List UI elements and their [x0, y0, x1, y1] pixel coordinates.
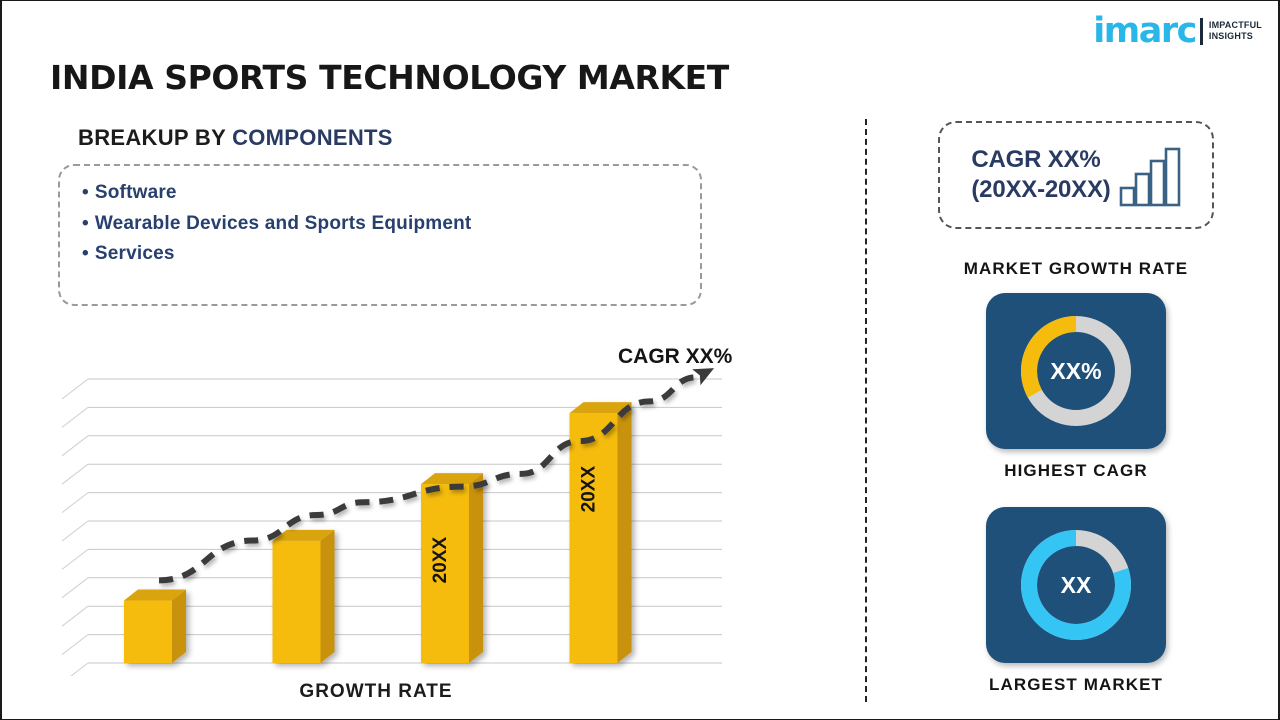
- donut-chart-largest-market: XX: [1011, 520, 1141, 650]
- growth-rate-bar-chart: 20XX20XX CAGR XX%: [50, 331, 750, 676]
- list-item: •Services: [82, 239, 700, 270]
- chart-x-axis-label: GROWTH RATE: [2, 681, 750, 703]
- page-title: INDIA SPORTS TECHNOLOGY MARKET: [50, 58, 729, 97]
- donut-chart-highest-cagr: XX%: [1011, 306, 1141, 436]
- infographic-page: imarc IMPACTFUL INSIGHTS INDIA SPORTS TE…: [0, 0, 1280, 720]
- highest-cagr-card: XX%: [986, 293, 1166, 449]
- bar: [124, 590, 186, 663]
- list-item-label: Services: [95, 243, 175, 264]
- largest-market-caption: LARGEST MARKET: [896, 675, 1256, 695]
- bar-chart-icon: [1119, 147, 1181, 207]
- logo-divider: [1200, 18, 1203, 45]
- bar-label: 20XX: [579, 466, 600, 513]
- cagr-period: (20XX-20XX): [971, 175, 1110, 205]
- cagr-card: CAGR XX% (20XX-20XX): [938, 121, 1214, 229]
- subtitle-accent: COMPONENTS: [232, 125, 393, 150]
- chart-canvas: 20XX20XX CAGR XX%: [50, 331, 750, 676]
- bar-label: 20XX: [430, 537, 451, 584]
- logo-tagline: IMPACTFUL INSIGHTS: [1209, 20, 1262, 42]
- panel-divider: [865, 119, 867, 702]
- bar: [570, 402, 632, 663]
- cagr-value: CAGR XX%: [971, 145, 1110, 175]
- cagr-card-text: CAGR XX% (20XX-20XX): [971, 145, 1110, 205]
- logo-tagline-line2: INSIGHTS: [1209, 31, 1262, 42]
- largest-market-card: XX: [986, 507, 1166, 663]
- components-list-box: •Software •Wearable Devices and Sports E…: [58, 164, 702, 306]
- logo-wordmark: imarc: [1093, 14, 1196, 48]
- bullet-icon: •: [82, 213, 89, 234]
- cagr-card-caption: MARKET GROWTH RATE: [896, 259, 1256, 279]
- page-subtitle: BREAKUP BY COMPONENTS: [78, 125, 393, 151]
- donut-value: XX%: [1050, 358, 1101, 384]
- chart-bars: 20XX20XX: [124, 402, 632, 663]
- imarc-logo: imarc IMPACTFUL INSIGHTS: [1093, 11, 1262, 51]
- list-item-label: Wearable Devices and Sports Equipment: [95, 213, 472, 234]
- bullet-icon: •: [82, 182, 89, 203]
- list-item-label: Software: [95, 182, 177, 203]
- trendline-label: CAGR XX%: [618, 345, 733, 368]
- subtitle-prefix: BREAKUP BY: [78, 125, 232, 150]
- list-item: •Software: [82, 178, 700, 209]
- bullet-icon: •: [82, 243, 89, 264]
- list-item: •Wearable Devices and Sports Equipment: [82, 209, 700, 240]
- highest-cagr-caption: HIGHEST CAGR: [896, 461, 1256, 481]
- bar: [273, 530, 335, 663]
- logo-tagline-line1: IMPACTFUL: [1209, 20, 1262, 31]
- donut-value: XX: [1061, 572, 1092, 598]
